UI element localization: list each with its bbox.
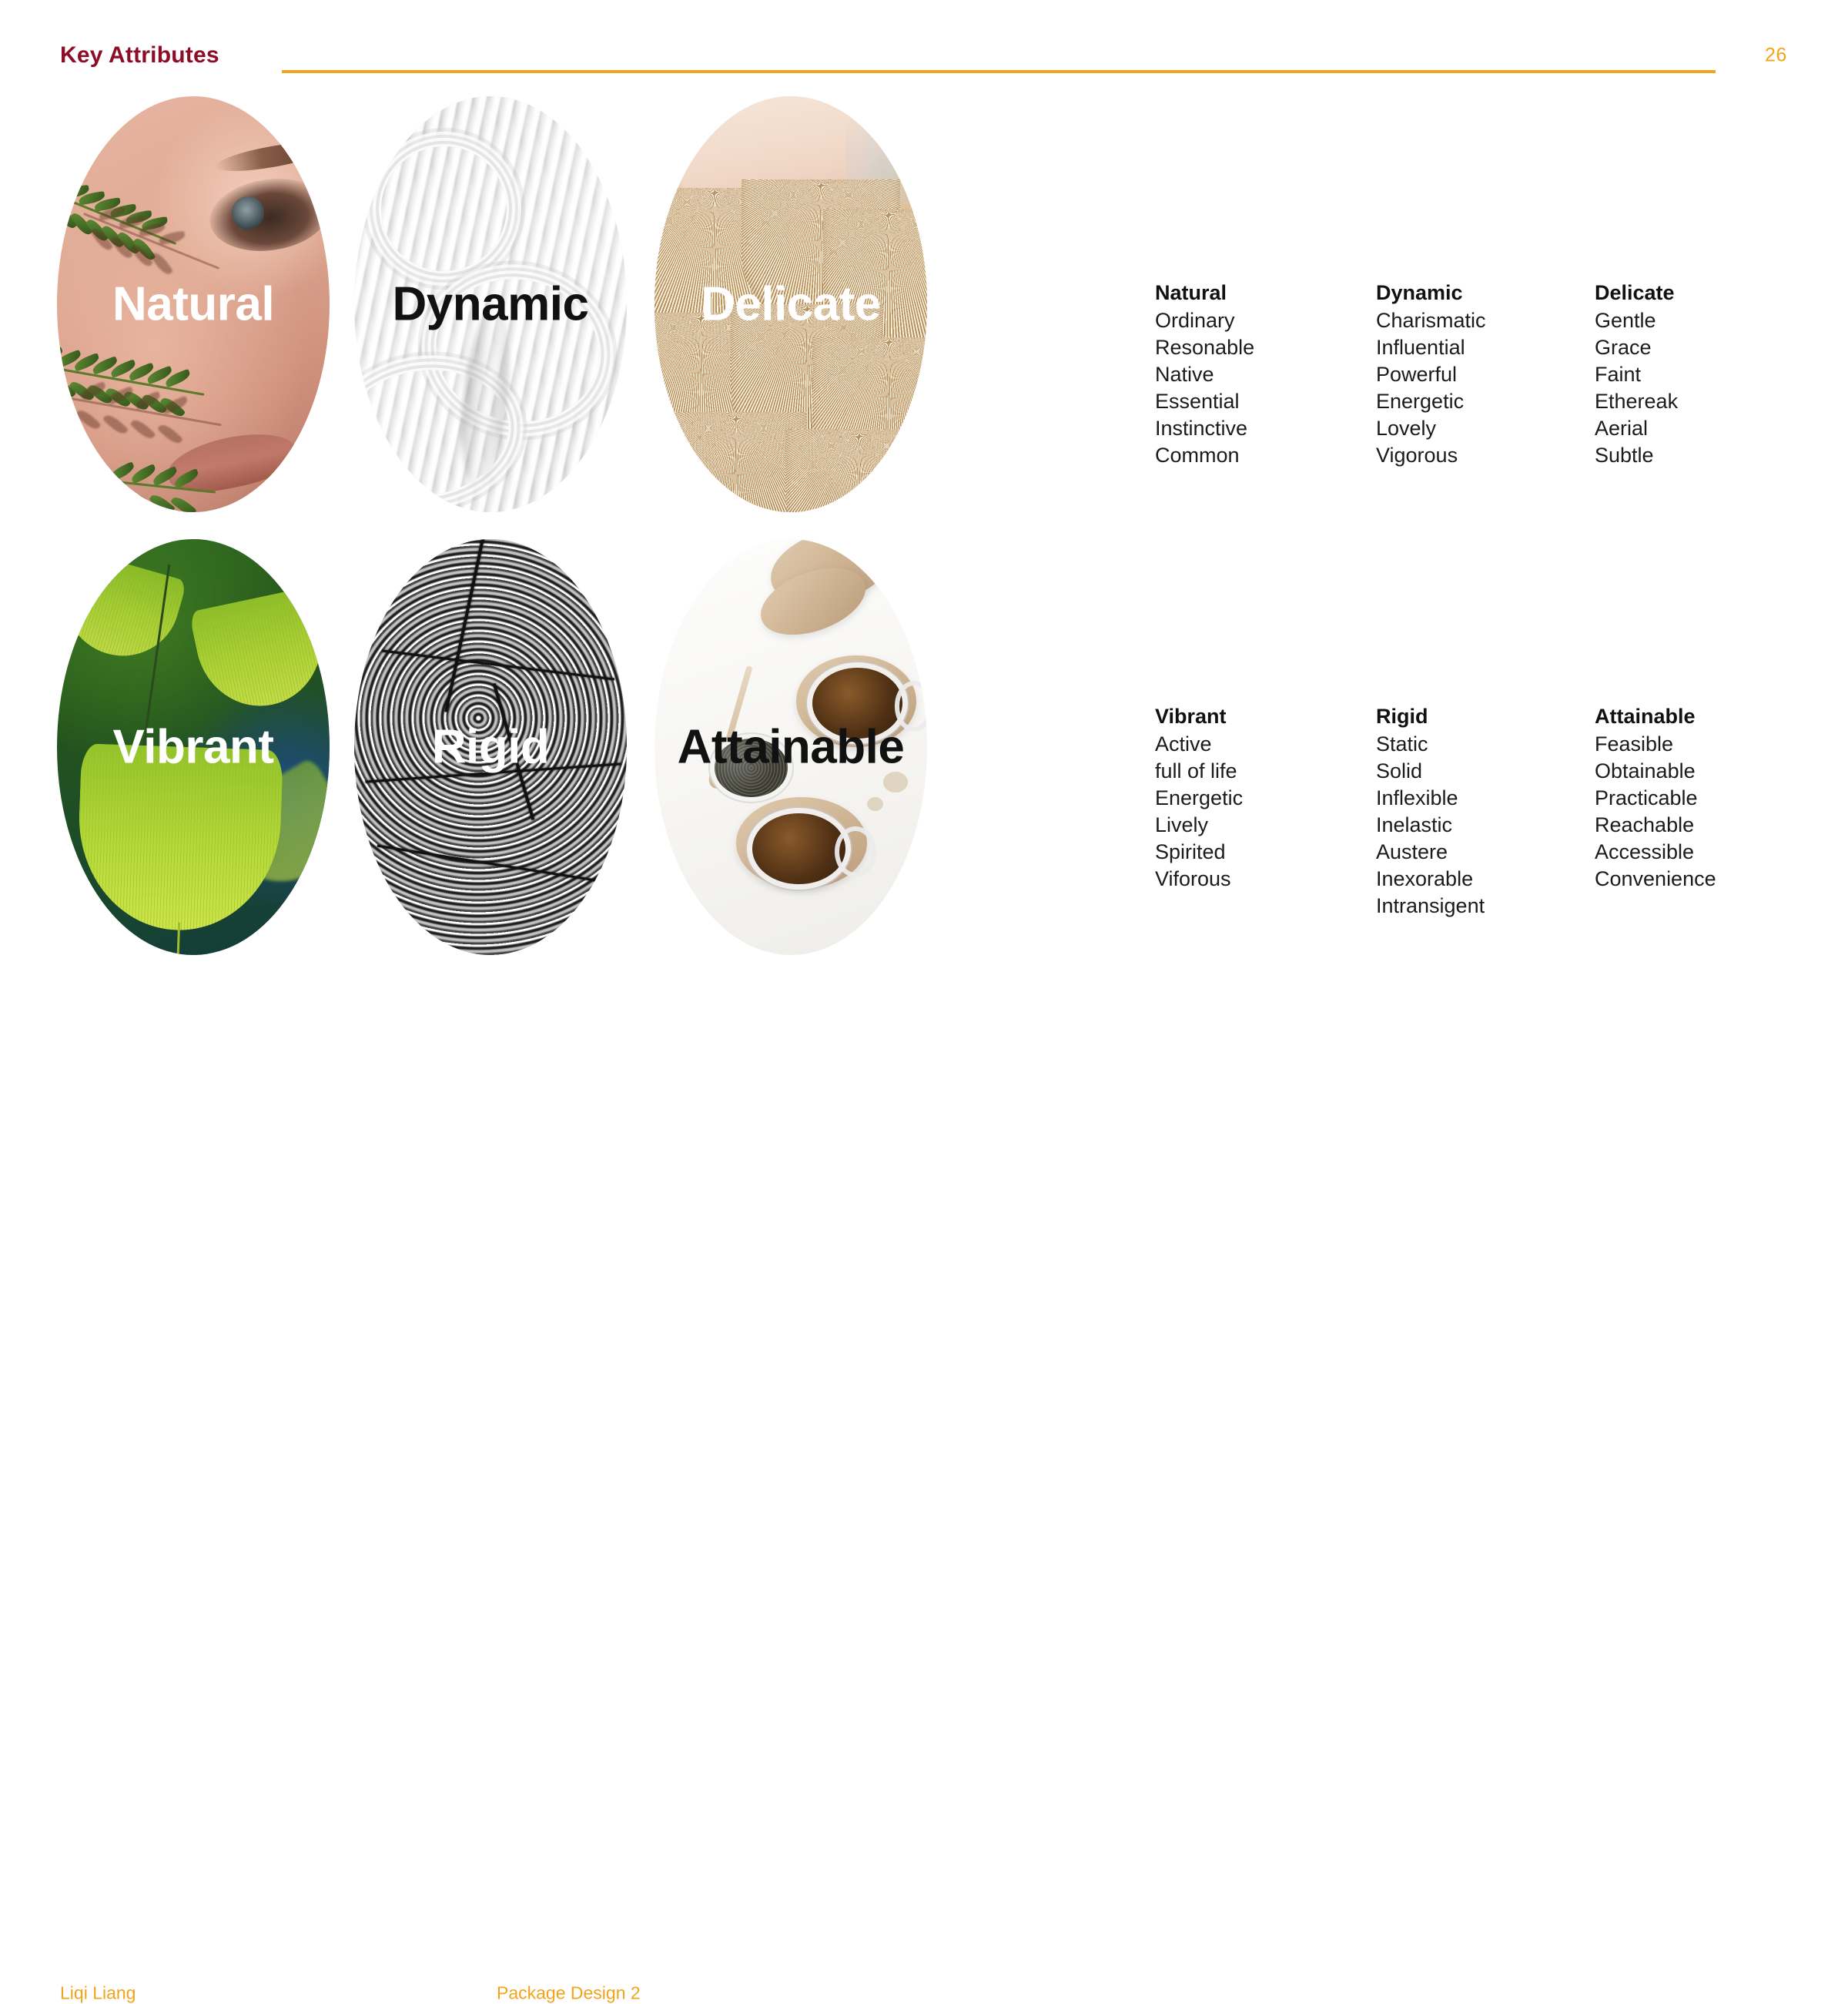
attribute-word: Inflexible — [1376, 785, 1599, 812]
attribute-word: Austere — [1376, 839, 1599, 866]
golden-pleated-fan-garment-image — [654, 96, 927, 512]
attribute-group-vibrant: Vibrant Active full of life Energetic Li… — [1155, 703, 1378, 893]
attribute-group-title: Natural — [1155, 280, 1378, 307]
attribute-group-attainable: Attainable Feasible Obtainable Practicab… — [1595, 703, 1818, 893]
attribute-card-grid: Natural Dynamic — [0, 0, 1039, 970]
attribute-card-natural[interactable]: Natural — [57, 96, 330, 512]
white-rippled-fabric-texture-image — [354, 96, 627, 512]
attribute-word: Powerful — [1376, 361, 1599, 388]
attribute-word: Obtainable — [1595, 758, 1818, 785]
attribute-word: Energetic — [1376, 388, 1599, 415]
attribute-word: Inelastic — [1376, 812, 1599, 839]
attribute-word: Energetic — [1155, 785, 1378, 812]
attribute-word: Ordinary — [1155, 307, 1378, 334]
cup-handle-2 — [835, 826, 876, 877]
attribute-word: Grace — [1595, 334, 1818, 361]
card-image-delicate — [654, 96, 927, 512]
attribute-word: Intransigent — [1376, 893, 1599, 920]
attribute-word: Accessible — [1595, 839, 1818, 866]
eye-shape — [206, 172, 330, 259]
attribute-word: Essential — [1155, 388, 1378, 415]
attribute-word: Static — [1376, 731, 1599, 758]
pleated-fan-8 — [785, 429, 927, 512]
attribute-word: Influential — [1376, 334, 1599, 361]
attribute-word: Subtle — [1595, 442, 1818, 469]
footer-author: Liqi Liang — [60, 1983, 136, 2004]
ripple-shape-1 — [365, 130, 523, 287]
attribute-word: Convenience — [1595, 866, 1818, 893]
attribute-word: Spirited — [1155, 839, 1378, 866]
attribute-group-title: Attainable — [1595, 703, 1818, 730]
closeup-face-with-fern-leaves-image — [57, 96, 330, 512]
greyscale-tree-ring-cross-section-image — [354, 539, 627, 955]
footer-course: Package Design 2 — [497, 1983, 641, 2004]
attribute-group-title: Vibrant — [1155, 703, 1378, 730]
attribute-word-lists: Natural Ordinary Resonable Native Essent… — [1155, 0, 1848, 1040]
attribute-group-rigid: Rigid Static Solid Inflexible Inelastic … — [1376, 703, 1599, 920]
attribute-word: Resonable — [1155, 334, 1378, 361]
attribute-card-dynamic[interactable]: Dynamic — [354, 96, 627, 512]
card-image-rigid — [354, 539, 627, 955]
attribute-card-rigid[interactable]: Rigid — [354, 539, 627, 955]
attribute-word: Lovely — [1376, 415, 1599, 442]
card-image-natural — [57, 96, 330, 512]
coffee-cup-1 — [812, 668, 902, 739]
attribute-card-delicate[interactable]: Delicate — [654, 96, 927, 512]
attribute-word: Gentle — [1595, 307, 1818, 334]
attribute-word: full of life — [1155, 758, 1378, 785]
slide-footer: Liqi Liang Package Design 2 — [0, 986, 1848, 1040]
ginkgo-leaf-2 — [189, 585, 330, 717]
attribute-word: Instinctive — [1155, 415, 1378, 442]
attribute-word: Vigorous — [1376, 442, 1599, 469]
attribute-group-title: Rigid — [1376, 703, 1599, 730]
cup-handle-1 — [895, 681, 927, 732]
green-ginkgo-leaves-image — [57, 539, 330, 955]
attribute-word: Faint — [1595, 361, 1818, 388]
coffee-cups-on-white-table-image — [654, 539, 927, 955]
attribute-group-natural: Natural Ordinary Resonable Native Essent… — [1155, 280, 1378, 469]
iris-shape — [232, 196, 264, 230]
seed-bowl — [715, 739, 788, 797]
attribute-word: Active — [1155, 731, 1378, 758]
attribute-word: Practicable — [1595, 785, 1818, 812]
attribute-group-title: Dynamic — [1376, 280, 1599, 307]
attribute-word: Charismatic — [1376, 307, 1599, 334]
attribute-word: Native — [1155, 361, 1378, 388]
attribute-word: Inexorable — [1376, 866, 1599, 893]
attribute-word: Lively — [1155, 812, 1378, 839]
tree-rings-shape — [354, 539, 627, 955]
crumb-2 — [867, 797, 883, 811]
coffee-cup-2 — [752, 813, 845, 884]
card-image-dynamic — [354, 96, 627, 512]
card-image-attainable — [654, 539, 927, 955]
attribute-card-vibrant[interactable]: Vibrant — [57, 539, 330, 955]
card-image-vibrant — [57, 539, 330, 955]
attribute-card-attainable[interactable]: Attainable — [654, 539, 927, 955]
attribute-group-title: Delicate — [1595, 280, 1818, 307]
attribute-group-delicate: Delicate Gentle Grace Faint Ethereak Aer… — [1595, 280, 1818, 469]
attribute-word: Solid — [1376, 758, 1599, 785]
crumb-1 — [883, 772, 908, 793]
attribute-word: Common — [1155, 442, 1378, 469]
attribute-word: Feasible — [1595, 731, 1818, 758]
ginkgo-leaf-main — [75, 744, 283, 934]
attribute-group-dynamic: Dynamic Charismatic Influential Powerful… — [1376, 280, 1599, 469]
attribute-word: Aerial — [1595, 415, 1818, 442]
attribute-word: Ethereak — [1595, 388, 1818, 415]
eyebrow-shape — [214, 136, 330, 176]
attribute-word: Reachable — [1595, 812, 1818, 839]
attribute-word: Viforous — [1155, 866, 1378, 893]
